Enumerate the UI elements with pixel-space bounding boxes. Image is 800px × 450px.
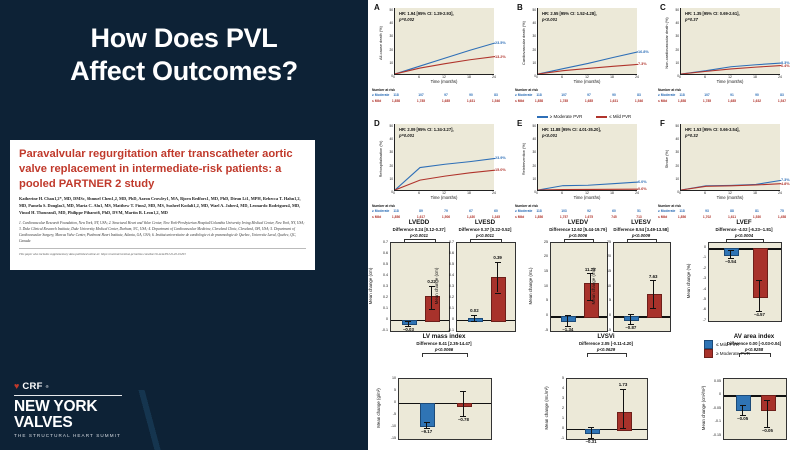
error-cap-top bbox=[764, 400, 770, 401]
km-panel-letter: E bbox=[517, 119, 522, 128]
error-bar bbox=[730, 250, 731, 258]
error-cap-top bbox=[728, 250, 734, 251]
bar-y-tick: 0.3 bbox=[374, 284, 388, 288]
risk-value: 1,631 bbox=[467, 99, 475, 103]
bar-y-tick: 10 bbox=[382, 376, 396, 380]
bar-y-tick: 0.5 bbox=[374, 262, 388, 266]
bar-y-tick: 0 bbox=[534, 313, 548, 317]
bar-y-tick: 25 bbox=[597, 240, 611, 244]
bar-y-tick: 3 bbox=[550, 396, 564, 400]
significance-bracket bbox=[422, 353, 468, 357]
risk-row: ≤ Mild1,8581,7851,6851,6311,546 bbox=[372, 99, 508, 105]
bar-y-tick: 0.4 bbox=[374, 273, 388, 277]
risk-value: 1,530 bbox=[753, 215, 761, 219]
bar-chart-title: LVESD bbox=[452, 219, 518, 226]
risk-row-label: ≤ Mild bbox=[515, 215, 524, 219]
bar-y-tick: 0.6 bbox=[440, 251, 454, 255]
risk-value: 75 bbox=[780, 209, 784, 213]
brand-logo: ♥ CRF ® NEW YORK VALVES THE STRUCTURAL H… bbox=[14, 381, 164, 438]
bar-y-tick: -4 bbox=[692, 287, 706, 291]
risk-row-label: ≤ Mild bbox=[372, 215, 381, 219]
heart-icon: ♥ bbox=[14, 382, 19, 391]
page-title: How Does PVL Affect Outcomes? bbox=[0, 22, 368, 88]
bar-value-label: 0.39 bbox=[493, 255, 502, 260]
bar-y-tick: 0 bbox=[374, 317, 388, 321]
bar-difference-label: Difference 12.62 [5.44-19.79] bbox=[546, 227, 610, 233]
km-plot-area: HR: 1.53 [95% CI: 0.66-3.54],p=0.32 bbox=[680, 124, 780, 191]
risk-value: 107 bbox=[418, 93, 424, 97]
risk-row-label: ≥ Moderate bbox=[515, 93, 532, 97]
bar-blue bbox=[420, 403, 435, 427]
risk-value: 88 bbox=[730, 209, 734, 213]
km-endpoint-label: 7.3% bbox=[638, 62, 647, 66]
error-bar bbox=[474, 315, 475, 322]
km-x-axis-label: Time (months) bbox=[680, 195, 780, 200]
km-y-ticks: 01020304050 bbox=[384, 4, 393, 74]
error-bar bbox=[497, 262, 498, 293]
km-x-axis-label: Time (months) bbox=[394, 79, 494, 84]
risk-value: 89 bbox=[419, 209, 423, 213]
km-plot-area: HR: 1.94 [95% CI: 1.29-2.93],p=0.002 bbox=[394, 8, 494, 75]
km-x-axis-label: Time (months) bbox=[537, 79, 637, 84]
km-plot-area: HR: 2.09 [95% CI: 1.34-3.27],p=0.001 bbox=[394, 124, 494, 191]
logo-tagline: THE STRUCTURAL HEART SUMMIT bbox=[14, 433, 164, 438]
risk-value: 1,675 bbox=[585, 215, 593, 219]
bar-y-tick: 1 bbox=[550, 416, 564, 420]
bar-y-axis-label: Mean change (cm²/m²) bbox=[701, 378, 706, 438]
bar-y-tick: 0.3 bbox=[440, 284, 454, 288]
error-bar bbox=[463, 391, 464, 417]
error-bar bbox=[653, 280, 654, 308]
bar-y-tick: 10 bbox=[597, 284, 611, 288]
legend-swatch bbox=[537, 116, 548, 118]
bar-y-tick: 0.05 bbox=[707, 379, 721, 383]
bar-value-label: −0.87 bbox=[625, 325, 636, 330]
risk-value: 118 bbox=[679, 93, 684, 97]
bar-y-tick: 20 bbox=[534, 254, 548, 258]
error-cap-top bbox=[460, 391, 466, 392]
bar-y-tick: 25 bbox=[534, 240, 548, 244]
risk-value: 1,632 bbox=[753, 99, 761, 103]
bar-y-tick: 0.7 bbox=[374, 240, 388, 244]
risk-value: 713 bbox=[636, 215, 642, 219]
km-panel-e: E Reintervention (%) 01020304050 HR: 11.… bbox=[513, 118, 653, 230]
risk-table-header: Number at risk bbox=[658, 88, 794, 92]
km-panel-letter: B bbox=[517, 3, 523, 12]
km-y-ticks: 01020304050 bbox=[527, 4, 536, 74]
significance-bracket bbox=[587, 353, 628, 357]
risk-value: 1,631 bbox=[610, 99, 618, 103]
risk-value: 1,617 bbox=[417, 215, 425, 219]
km-panel-b: B Cardiovascular death (%) 01020304050 H… bbox=[513, 2, 653, 114]
bar-red bbox=[753, 248, 768, 298]
km-x-axis-label: Time (months) bbox=[537, 195, 637, 200]
zero-line bbox=[709, 248, 781, 249]
km-y-ticks: 01020304050 bbox=[670, 120, 679, 190]
risk-value: 1,858 bbox=[535, 99, 543, 103]
bar-p-value: p<0.0011 bbox=[452, 233, 518, 238]
risk-value: 1,547 bbox=[778, 99, 786, 103]
error-bar bbox=[759, 280, 760, 310]
km-panel-a: A All-cause death (%) 01020304050 HR: 1.… bbox=[370, 2, 510, 114]
bar-y-tick: -0.15 bbox=[707, 433, 721, 437]
bar-p-value: p<0.0006 bbox=[546, 233, 610, 238]
error-cap-bottom bbox=[495, 293, 501, 294]
bar-plot-area: 0.020.39 bbox=[456, 242, 516, 332]
km-x-axis-label: Time (months) bbox=[394, 195, 494, 200]
risk-value: 118 bbox=[536, 93, 541, 97]
risk-value: 118 bbox=[536, 209, 541, 213]
km-endpoint-label: 15.0% bbox=[495, 168, 506, 172]
bar-y-tick: -15 bbox=[382, 436, 396, 440]
risk-value: 79 bbox=[444, 209, 448, 213]
error-cap-top bbox=[565, 315, 571, 316]
zero-line bbox=[399, 403, 491, 404]
risk-value: 60 bbox=[494, 209, 498, 213]
bar-y-tick: -3 bbox=[692, 276, 706, 280]
bar-y-tick: -5 bbox=[534, 328, 548, 332]
bar-chart-title: LVSVi bbox=[562, 333, 650, 340]
bar-y-tick: -7 bbox=[692, 318, 706, 322]
bar-y-tick: -6 bbox=[692, 307, 706, 311]
bar-y-tick: -0.1 bbox=[440, 328, 454, 332]
bar-y-tick: 5 bbox=[550, 376, 564, 380]
bar-chart-title: AV area index bbox=[719, 333, 789, 340]
risk-value: 1,785 bbox=[560, 99, 568, 103]
bar-y-axis-label: Mean change (mL) bbox=[528, 242, 533, 330]
logo-brand: CRF bbox=[22, 381, 42, 392]
km-y-ticks: 01020304050 bbox=[384, 120, 393, 190]
page-title-line2: Affect Outcomes? bbox=[0, 55, 368, 88]
bar-y-axis-label: Mean change (cm) bbox=[434, 242, 439, 330]
risk-value: 1,858 bbox=[392, 99, 400, 103]
logo-divider bbox=[14, 395, 122, 396]
figure-sheet: A All-cause death (%) 01020304050 HR: 1.… bbox=[368, 0, 800, 450]
bar-blue bbox=[736, 395, 751, 411]
risk-value: 83 bbox=[494, 93, 498, 97]
legend-swatch bbox=[704, 349, 713, 358]
logo-line2: VALVES bbox=[14, 415, 164, 431]
bar-chart-title: LVEF bbox=[704, 219, 784, 226]
bar-value-label: 7.63 bbox=[649, 274, 658, 279]
bar-y-tick: -1 bbox=[550, 436, 564, 440]
error-cap-top bbox=[628, 314, 634, 315]
risk-value: 60 bbox=[612, 209, 616, 213]
bar-value-label: −0.03 bbox=[403, 327, 414, 332]
bar-difference-label: Difference 0.37 [0.22-0.52] bbox=[452, 227, 518, 233]
error-cap-bottom bbox=[471, 321, 477, 322]
km-panel-letter: D bbox=[374, 119, 380, 128]
error-bar bbox=[426, 422, 427, 429]
risk-value: 1,685 bbox=[728, 99, 736, 103]
km-panel-letter: C bbox=[660, 3, 666, 12]
bar-p-value: p<0.0004 bbox=[704, 233, 784, 238]
risk-value: 83 bbox=[780, 93, 784, 97]
km-legend-item: ≥ Moderate PVR bbox=[537, 114, 582, 119]
bar-value-label: −9.17 bbox=[421, 429, 432, 434]
risk-row-label: ≤ Mild bbox=[372, 99, 381, 103]
bar-red bbox=[491, 277, 506, 322]
risk-table-header: Number at risk bbox=[372, 204, 508, 208]
risk-value: 1,685 bbox=[585, 99, 593, 103]
risk-value: 67 bbox=[469, 209, 473, 213]
risk-value: 118 bbox=[393, 209, 398, 213]
km-plot-area: HR: 1.35 [95% CI: 0.69-2.61],p=0.37 bbox=[680, 8, 780, 75]
bar-y-tick: 20 bbox=[597, 254, 611, 258]
bar-y-axis-label: Mean change (%) bbox=[686, 242, 691, 320]
bar-y-axis-label: Mean change (cm) bbox=[368, 242, 373, 330]
risk-value: 1,430 bbox=[467, 215, 475, 219]
risk-row: ≤ Mild1,8581,7851,6851,6311,546 bbox=[515, 99, 651, 105]
error-bar bbox=[591, 427, 592, 438]
risk-table-header: Number at risk bbox=[372, 88, 508, 92]
km-risk-table: Number at risk≥ Moderate118107979083≤ Mi… bbox=[372, 88, 508, 105]
bar-y-tick: 2 bbox=[550, 406, 564, 410]
risk-value: 1,856 bbox=[535, 215, 543, 219]
bar-y-tick: 0.2 bbox=[374, 295, 388, 299]
bar-chart-title: LV mass index bbox=[394, 333, 494, 340]
km-x-axis-label: Time (months) bbox=[680, 79, 780, 84]
risk-value: 118 bbox=[393, 93, 398, 97]
km-panel-f: F Stroke (%) 01020304050 HR: 1.53 [95% C… bbox=[656, 118, 796, 230]
risk-value: 107 bbox=[561, 93, 567, 97]
bar-p-value: p<0.0011 bbox=[386, 233, 452, 238]
bar-value-label: −0.31 bbox=[585, 439, 596, 444]
risk-row-label: ≥ Moderate bbox=[658, 93, 675, 97]
zero-line bbox=[724, 395, 786, 396]
risk-value: 81 bbox=[755, 209, 759, 213]
bar-red bbox=[761, 395, 776, 411]
bar-y-tick: 0.1 bbox=[440, 306, 454, 310]
risk-row: ≤ Mild1,8581,7851,6851,6321,547 bbox=[658, 99, 794, 105]
paper-title: Paravalvular regurgitation after transca… bbox=[19, 147, 306, 191]
bar-legend-item: ≥ Moderate PVR bbox=[704, 349, 750, 358]
risk-value: 97 bbox=[444, 93, 448, 97]
paper-affiliations: 1. Cardiovascular Research Foundation, N… bbox=[19, 221, 306, 244]
risk-value: 90 bbox=[469, 93, 473, 97]
bar-y-tick: 0.6 bbox=[374, 251, 388, 255]
bar-y-tick: -1 bbox=[692, 255, 706, 259]
km-endpoint-label: 16.8% bbox=[638, 50, 649, 54]
error-cap-top bbox=[650, 280, 656, 281]
error-cap-top bbox=[740, 405, 746, 406]
risk-value: 1,506 bbox=[442, 215, 450, 219]
error-cap-bottom bbox=[620, 428, 626, 429]
bar-plot-area: −0.05−0.05 bbox=[723, 378, 787, 440]
error-cap-top bbox=[471, 315, 477, 316]
risk-row-label: ≤ Mild bbox=[658, 215, 667, 219]
risk-value: 92 bbox=[587, 209, 591, 213]
risk-value: 1,785 bbox=[703, 99, 711, 103]
risk-value: 91 bbox=[730, 93, 734, 97]
bar-y-tick: -5 bbox=[597, 328, 611, 332]
bar-y-tick: 0 bbox=[707, 392, 721, 396]
bar-p-value: p<0.0066 bbox=[394, 347, 494, 352]
km-y-ticks: 01020304050 bbox=[670, 4, 679, 74]
error-bar bbox=[567, 315, 568, 327]
risk-row-label: ≥ Moderate bbox=[658, 209, 675, 213]
bar-y-tick: 0.5 bbox=[440, 262, 454, 266]
bar-blue bbox=[561, 316, 576, 322]
kaplan-meier-legend: ≥ Moderate PVR≤ Mild PVR bbox=[368, 114, 800, 119]
risk-value: 118 bbox=[679, 209, 684, 213]
risk-table-header: Number at risk bbox=[515, 88, 651, 92]
km-endpoint-label: 13.2% bbox=[495, 55, 506, 59]
bar-y-tick: -2 bbox=[692, 266, 706, 270]
risk-value: 1,611 bbox=[728, 215, 736, 219]
bar-value-label: 1.73 bbox=[619, 382, 628, 387]
bar-y-tick: 0.2 bbox=[440, 295, 454, 299]
risk-value: 83 bbox=[637, 93, 641, 97]
bar-y-tick: -5 bbox=[692, 297, 706, 301]
risk-value: 1,858 bbox=[678, 99, 686, 103]
bar-difference-label: Difference 8.41 [2.35-14.47] bbox=[394, 341, 494, 347]
km-endpoint-label: 6.0% bbox=[638, 180, 647, 184]
risk-value: 90 bbox=[755, 93, 759, 97]
error-bar bbox=[623, 389, 624, 428]
bar-y-axis-label: Mean change (g/m²) bbox=[376, 378, 381, 438]
error-cap-top bbox=[588, 427, 594, 428]
risk-value: 103 bbox=[561, 209, 567, 213]
bar-y-tick: 15 bbox=[597, 269, 611, 273]
risk-value: 1,702 bbox=[703, 215, 711, 219]
error-cap-top bbox=[424, 422, 430, 423]
legend-swatch bbox=[596, 116, 607, 118]
risk-value: 1,757 bbox=[560, 215, 568, 219]
risk-value: 93 bbox=[705, 209, 709, 213]
bar-p-value: p<0.0629 bbox=[562, 347, 650, 352]
page-title-line1: How Does PVL bbox=[0, 22, 368, 55]
bar-y-tick: -0.1 bbox=[374, 328, 388, 332]
bar-plot-area: −9.17−0.78 bbox=[398, 378, 492, 440]
risk-value: 745 bbox=[611, 215, 617, 219]
km-endpoint-label: 23.9% bbox=[495, 156, 506, 160]
bar-value-label: −0.05 bbox=[737, 416, 748, 421]
risk-value: 1,458 bbox=[778, 215, 786, 219]
logo-line1: NEW YORK bbox=[14, 399, 164, 415]
km-panel-letter: F bbox=[660, 119, 665, 128]
km-legend-item: ≤ Mild PVR bbox=[596, 114, 631, 119]
km-plot-area: HR: 11.88 [95% CI: 4.01-35.20],p<0.001 bbox=[537, 124, 637, 191]
km-plot-area: HR: 2.55 [95% CI: 1.52-4.28],p<0.001 bbox=[537, 8, 637, 75]
km-panel-letter: A bbox=[374, 3, 380, 12]
risk-value: 1,785 bbox=[417, 99, 425, 103]
risk-row-label: ≤ Mild bbox=[658, 99, 667, 103]
bar-y-tick: 0 bbox=[382, 400, 396, 404]
bar-y-tick: 4 bbox=[550, 386, 564, 390]
bar-difference-label: Difference 2.05 [-0.11-4.20] bbox=[562, 341, 650, 347]
error-bar bbox=[630, 314, 631, 324]
bar-y-tick: 5 bbox=[534, 298, 548, 302]
logo-registered-mark: ® bbox=[46, 384, 49, 389]
error-bar bbox=[767, 400, 768, 426]
risk-value: 1,856 bbox=[392, 215, 400, 219]
bar-value-label: −0.54 bbox=[725, 259, 736, 264]
bar-difference-label: Difference 8.54 [3.49-13.58] bbox=[609, 227, 673, 233]
bar-chart-legend: ≤ Mild PVR≥ Moderate PVR bbox=[704, 340, 750, 358]
error-cap-bottom bbox=[650, 308, 656, 309]
zero-line bbox=[457, 320, 515, 321]
km-risk-table: Number at risk≥ Moderate118107979083≤ Mi… bbox=[515, 88, 651, 105]
risk-row-label: ≤ Mild bbox=[515, 99, 524, 103]
error-bar bbox=[431, 286, 432, 309]
bar-y-tick: -0.05 bbox=[707, 406, 721, 410]
bar-y-axis-label: Mean change (mL) bbox=[591, 242, 596, 330]
legend-swatch bbox=[704, 340, 713, 349]
bar-difference-label: Difference -4.02 [-6.23--1.81] bbox=[704, 227, 784, 233]
bar-blue bbox=[585, 429, 600, 434]
bar-y-tick: -5 bbox=[382, 412, 396, 416]
bar-blue bbox=[624, 316, 639, 321]
km-endpoint-label: 6.4% bbox=[781, 64, 790, 68]
bar-y-tick: 0 bbox=[550, 426, 564, 430]
km-panel-c: C Non-cardiovascular death (%) 010203040… bbox=[656, 2, 796, 114]
zero-line bbox=[567, 429, 647, 430]
bar-chart-title: LVESV bbox=[609, 219, 673, 226]
risk-row-label: ≥ Moderate bbox=[372, 209, 389, 213]
risk-row-label: ≥ Moderate bbox=[372, 93, 389, 97]
km-endpoint-label: 4.8% bbox=[781, 182, 790, 186]
risk-table-header: Number at risk bbox=[515, 204, 651, 208]
bar-y-tick: 5 bbox=[382, 388, 396, 392]
bar-plot-area: −0.877.63 bbox=[613, 242, 671, 332]
risk-value: 107 bbox=[704, 93, 710, 97]
risk-value: 97 bbox=[587, 93, 591, 97]
risk-value: 1,685 bbox=[442, 99, 450, 103]
km-endpoint-label: 23.5% bbox=[495, 41, 506, 45]
bar-y-tick: 0.4 bbox=[440, 273, 454, 277]
bar-legend-item: ≤ Mild PVR bbox=[704, 340, 750, 349]
bar-y-tick: 0 bbox=[597, 313, 611, 317]
km-y-ticks: 01020304050 bbox=[527, 120, 536, 190]
error-cap-top bbox=[405, 321, 411, 322]
km-endpoint-label: 0.6% bbox=[638, 187, 647, 191]
paper-supplementary-note: This paper also includes supplementary d… bbox=[19, 248, 306, 257]
bar-chart-title: LVEDD bbox=[386, 219, 452, 226]
error-cap-top bbox=[620, 389, 626, 390]
bar-p-value: p<0.0009 bbox=[609, 233, 673, 238]
risk-row-label: ≥ Moderate bbox=[515, 209, 532, 213]
bar-y-tick: -10 bbox=[382, 424, 396, 428]
bar-y-tick: 10 bbox=[534, 284, 548, 288]
risk-value: 90 bbox=[612, 93, 616, 97]
bar-red bbox=[647, 294, 662, 318]
error-cap-top bbox=[495, 262, 501, 263]
bar-value-label: −0.05 bbox=[762, 428, 773, 433]
bar-red bbox=[457, 403, 472, 407]
bar-y-axis-label: Mean change (mL/m²) bbox=[544, 378, 549, 438]
paper-citation-card: Paravalvular regurgitation after transca… bbox=[10, 140, 315, 270]
bar-value-label: −0.78 bbox=[458, 417, 469, 422]
error-bar bbox=[742, 405, 743, 415]
risk-value: 1,546 bbox=[492, 99, 500, 103]
risk-value: 1,345 bbox=[492, 215, 500, 219]
bar-chart-title: LVEDV bbox=[546, 219, 610, 226]
bar-value-label: 0.02 bbox=[470, 308, 479, 313]
bar-y-tick: 0 bbox=[440, 317, 454, 321]
bar-chart-grid: LVEDD Difference 0.24 [0.12-0.37] p<0.00… bbox=[368, 228, 800, 450]
risk-table-header: Number at risk bbox=[658, 204, 794, 208]
error-cap-top bbox=[756, 280, 762, 281]
bar-y-tick: 0 bbox=[692, 245, 706, 249]
risk-value: 1,546 bbox=[635, 99, 643, 103]
bar-y-tick: 5 bbox=[597, 298, 611, 302]
bar-y-tick: 15 bbox=[534, 269, 548, 273]
km-panel-d: D Rehospitalisation (%) 01020304050 HR: … bbox=[370, 118, 510, 230]
bar-y-tick: 0.1 bbox=[374, 306, 388, 310]
paper-authors: Katherine H. Chau1,2*, MD, DMSc, Shmuel … bbox=[19, 196, 306, 217]
bar-value-label: −1.34 bbox=[562, 327, 573, 332]
